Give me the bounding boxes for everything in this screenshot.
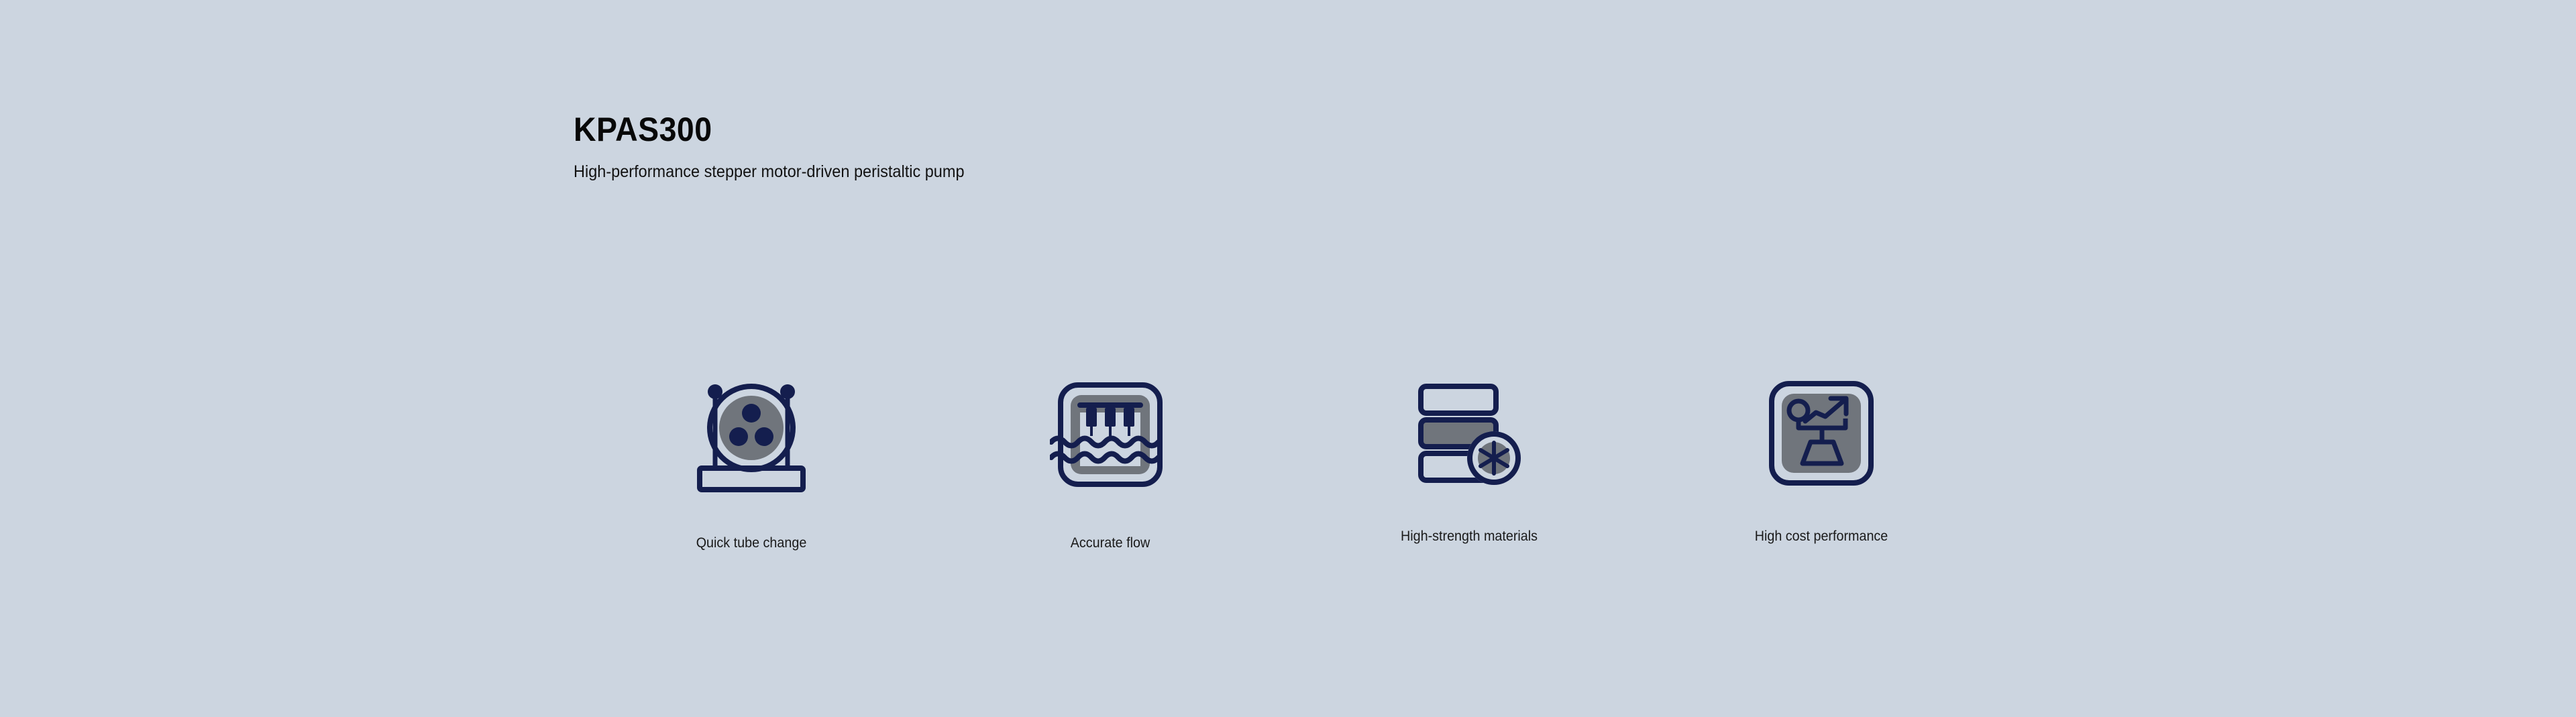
- feature-label: High cost performance: [1727, 529, 1916, 545]
- feature-list: Quick tube change: [0, 0, 2576, 717]
- product-banner: KPAS300 High-performance stepper motor-d…: [0, 0, 2576, 717]
- pump-head-icon: [691, 377, 812, 498]
- feature-label: Accurate flow: [1016, 535, 1205, 551]
- feature-label: Quick tube change: [657, 535, 846, 551]
- cost-performance-scale-icon: [1761, 376, 1882, 496]
- dispensing-flow-icon: [1050, 377, 1171, 498]
- stacked-material-wheel-icon: [1409, 376, 1529, 496]
- feature-label: High-strength materials: [1375, 529, 1564, 545]
